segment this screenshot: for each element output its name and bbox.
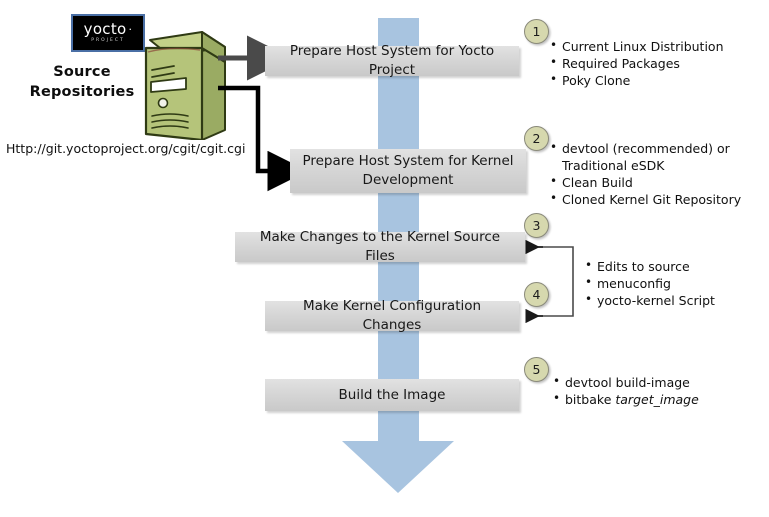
bullet-text: Clean Build [562,175,633,190]
bullet-item: Current Linux Distribution [549,38,724,55]
bullet-text: Cloned Kernel Git Repository [562,192,741,207]
bullet-text: Current Linux Distribution [562,39,724,54]
bullet-list-step5: devtool build-image bitbake target_image [552,374,699,408]
step-number-1: 1 [524,19,549,44]
source-repository-url: Http://git.yoctoproject.org/cgit/cgit.cg… [6,141,245,156]
process-box-step2[interactable]: Prepare Host System for Kernel Developme… [290,149,526,193]
step-number-2: 2 [524,126,549,151]
bullet-text: yocto-kernel Script [597,293,715,308]
bullet-item: Cloned Kernel Git Repository [549,191,741,208]
diagram-canvas: yocto· PROJECT Source Repositories Http:… [0,0,769,517]
bullet-list-step3-step4: Edits to source menuconfig yocto-kernel … [584,258,715,309]
logo-wordmark: yocto· [84,22,133,37]
bullet-text: menuconfig [597,276,671,291]
bullet-item: devtool build-image [552,374,699,391]
process-box-step3[interactable]: Make Changes to the Kernel Source Files [235,232,525,262]
bullet-item: Required Packages [549,55,724,72]
step-number-5: 5 [524,357,549,382]
process-box-step5[interactable]: Build the Image [265,379,519,411]
process-box-step4[interactable]: Make Kernel Configuration Changes [265,301,519,331]
bullet-item: devtool (recommended) or Traditional eSD… [549,140,741,174]
bullet-item: Clean Build [549,174,741,191]
bullet-list-step2: devtool (recommended) or Traditional eSD… [549,140,741,208]
logo-wordmark-text: yocto [84,20,127,38]
flow-spine-arrowhead [342,441,454,493]
logo-subtext: PROJECT [91,39,124,44]
bullet-item: yocto-kernel Script [584,292,715,309]
bullet-list-step1: Current Linux Distribution Required Pack… [549,38,724,89]
bullet-text: Edits to source [597,259,690,274]
bullet-text: devtool build-image [565,375,690,390]
bullet-item: Edits to source [584,258,715,275]
bullet-item: bitbake target_image [552,391,699,408]
bullet-item: menuconfig [584,275,715,292]
step-number-3: 3 [524,213,549,238]
step-number-4: 4 [524,282,549,307]
bullet-item: Poky Clone [549,72,724,89]
process-box-step1[interactable]: Prepare Host System for Yocto Project [265,46,519,76]
bullet-text: Poky Clone [562,73,630,88]
server-tower-icon [130,30,230,140]
bullet-text-continuation: Traditional eSDK [562,157,741,174]
bullet-text-italic: target_image [615,392,698,407]
bullet-text: devtool (recommended) or [562,141,730,156]
bullet-text: bitbake [565,392,615,407]
bullet-text: Required Packages [562,56,680,71]
